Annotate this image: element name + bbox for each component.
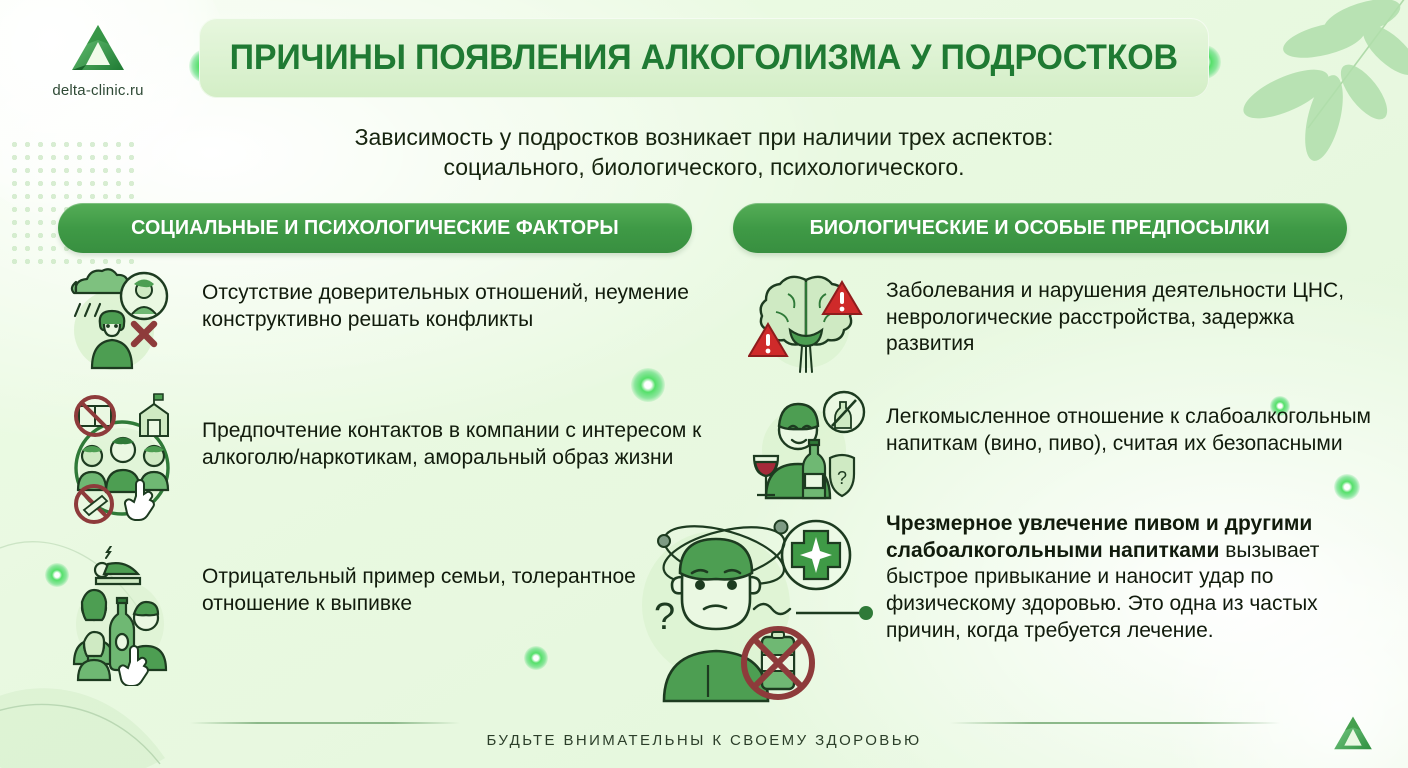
list-item-text: Предпочтение контактов в компании с инте… [202,392,702,471]
drunk-family-bottle-icon [62,546,188,686]
list-item-text: Отсутствие доверительных отношений, неум… [202,268,702,333]
list-item-text: Отрицательный пример семьи, толерантное … [202,546,702,617]
footer-divider-right [950,722,1280,724]
list-item: ? Легкомысленное отношение к слабоалкого… [748,390,1388,508]
list-item-text: Чрезмерное увлечение пивом и другими сла… [886,505,1398,644]
title-banner: ПРИЧИНЫ ПОЯВЛЕНИЯ АЛКОГОЛИЗМА У ПОДРОСТК… [199,18,1209,98]
footer-delta-triangle-logo-icon[interactable] [1332,714,1374,754]
brain-warning-icon [748,268,872,380]
teen-wine-beer-no-alcohol-icon: ? [748,390,872,508]
leaf-branch-icon [1212,0,1408,178]
list-item-text: Заболевания и нарушения деятельности ЦНС… [886,268,1388,358]
brand-logo[interactable]: delta-clinic.ru [18,22,178,99]
infographic-poster: delta-clinic.ru ПРИЧИНЫ ПОЯВЛЕНИЯ АЛКОГО… [0,0,1408,768]
page-subtitle: Зависимость у подростков возникает при н… [214,122,1194,183]
rain-cloud-sad-teen-no-contact-icon [62,268,188,372]
no-school-no-study-peer-group-icon [62,392,188,534]
list-item-text: Легкомысленное отношение к слабоалкоголь… [886,390,1388,457]
page-title: ПРИЧИНЫ ПОЯВЛЕНИЯ АЛКОГОЛИЗМА У ПОДРОСТК… [230,38,1178,78]
delta-triangle-logo-icon [69,22,127,76]
dizzy-teen-no-beer-can-icon: ? [628,505,874,705]
section-heading-biological: БИОЛОГИЧЕСКИЕ И ОСОБЫЕ ПРЕДПОСЫЛКИ [733,203,1347,253]
list-item: Отрицательный пример семьи, толерантное … [62,546,702,686]
list-item: Отсутствие доверительных отношений, неум… [62,268,702,372]
list-item: Предпочтение контактов в компании с инте… [62,392,702,534]
section-heading-biological-label: БИОЛОГИЧЕСКИЕ И ОСОБЫЕ ПРЕДПОСЫЛКИ [810,216,1270,240]
svg-text:?: ? [837,468,847,488]
footer-divider-left [190,722,460,724]
footer-message: БУДЬТЕ ВНИМАТЕЛЬНЫ К СВОЕМУ ЗДОРОВЬЮ [0,732,1408,749]
svg-text:?: ? [654,596,675,638]
section-heading-social: СОЦИАЛЬНЫЕ И ПСИХОЛОГИЧЕСКИЕ ФАКТОРЫ [58,203,692,253]
subtitle-line-2: социального, биологического, психологиче… [214,152,1194,182]
brand-site-label: delta-clinic.ru [18,82,178,99]
list-item: Заболевания и нарушения деятельности ЦНС… [748,268,1388,380]
subtitle-line-1: Зависимость у подростков возникает при н… [214,122,1194,152]
section-heading-social-label: СОЦИАЛЬНЫЕ И ПСИХОЛОГИЧЕСКИЕ ФАКТОРЫ [131,216,619,240]
list-item: ? Чрезмерное увлечение пив [628,505,1398,705]
